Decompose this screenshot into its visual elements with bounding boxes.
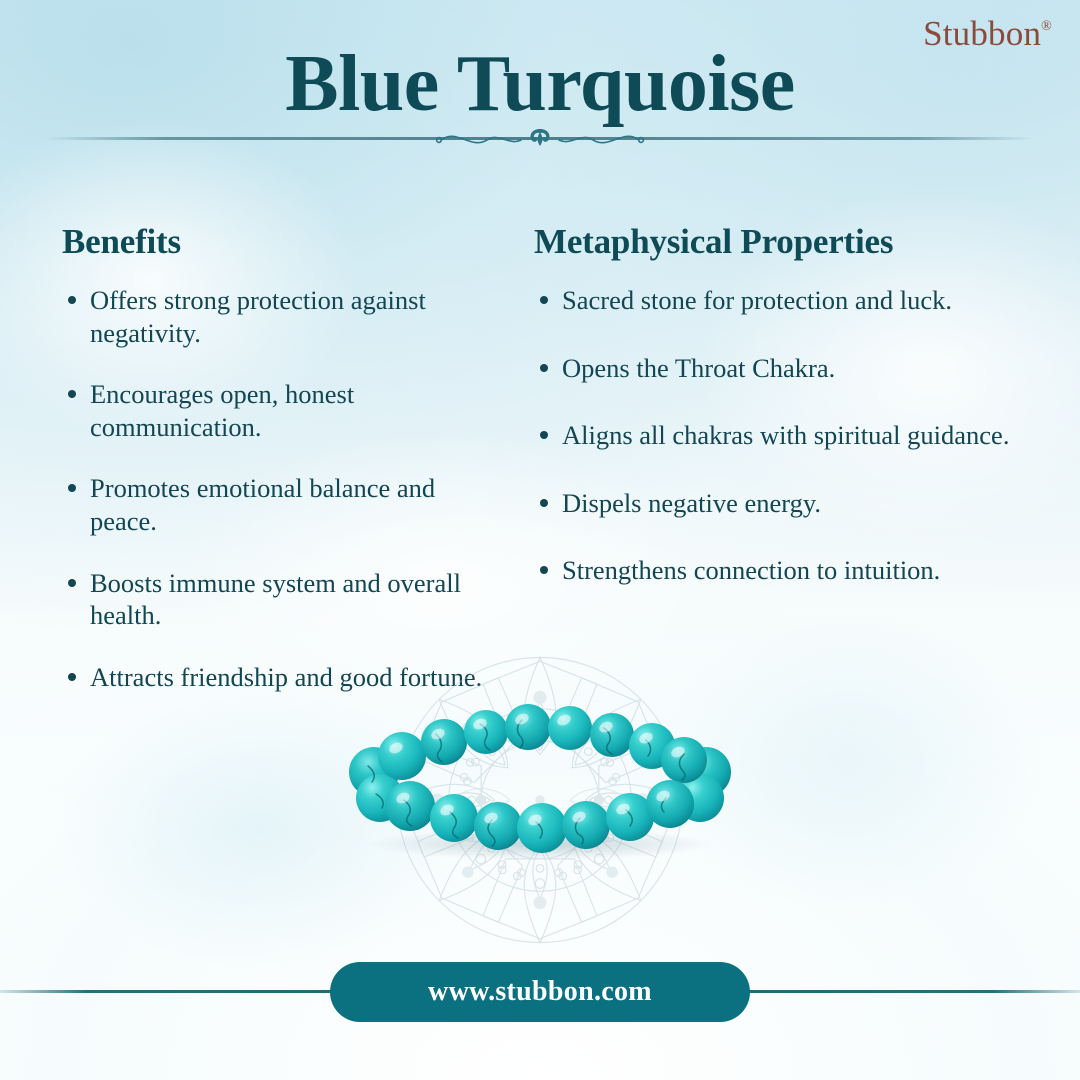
list-item: Dispels negative energy. (534, 487, 1050, 520)
flourish-divider-icon (425, 122, 655, 156)
website-url-label: www.stubbon.com (428, 976, 652, 1008)
list-item: Attracts friendship and good fortune. (62, 661, 502, 694)
list-item: Sacred stone for protection and luck. (534, 284, 1050, 317)
poster-canvas: Stubbon® Blue Turquoise Benefits Offers … (0, 0, 1080, 1080)
metaphysical-list: Sacred stone for protection and luck. Op… (534, 284, 1050, 587)
column-benefits: Benefits Offers strong protection agains… (0, 222, 520, 722)
list-item: Encourages open, honest communication. (62, 378, 502, 443)
list-item: Promotes emotional balance and peace. (62, 472, 502, 537)
turquoise-beaded-bracelet-image (340, 694, 740, 866)
list-item: Aligns all chakras with spiritual guidan… (534, 419, 1050, 452)
column-heading-metaphysical: Metaphysical Properties (534, 222, 1050, 262)
page-title: Blue Turquoise (0, 44, 1080, 124)
content-columns: Benefits Offers strong protection agains… (0, 222, 1080, 722)
column-metaphysical-properties: Metaphysical Properties Sacred stone for… (520, 222, 1080, 722)
list-item: Opens the Throat Chakra. (534, 352, 1050, 385)
list-item: Boosts immune system and overall health. (62, 567, 502, 632)
benefits-list: Offers strong protection against negativ… (62, 284, 502, 693)
list-item: Strengthens connection to intuition. (534, 554, 1050, 587)
registered-trademark-icon: ® (1041, 19, 1052, 34)
list-item: Offers strong protection against negativ… (62, 284, 502, 349)
column-heading-benefits: Benefits (62, 222, 502, 262)
website-url-button[interactable]: www.stubbon.com (330, 962, 750, 1022)
